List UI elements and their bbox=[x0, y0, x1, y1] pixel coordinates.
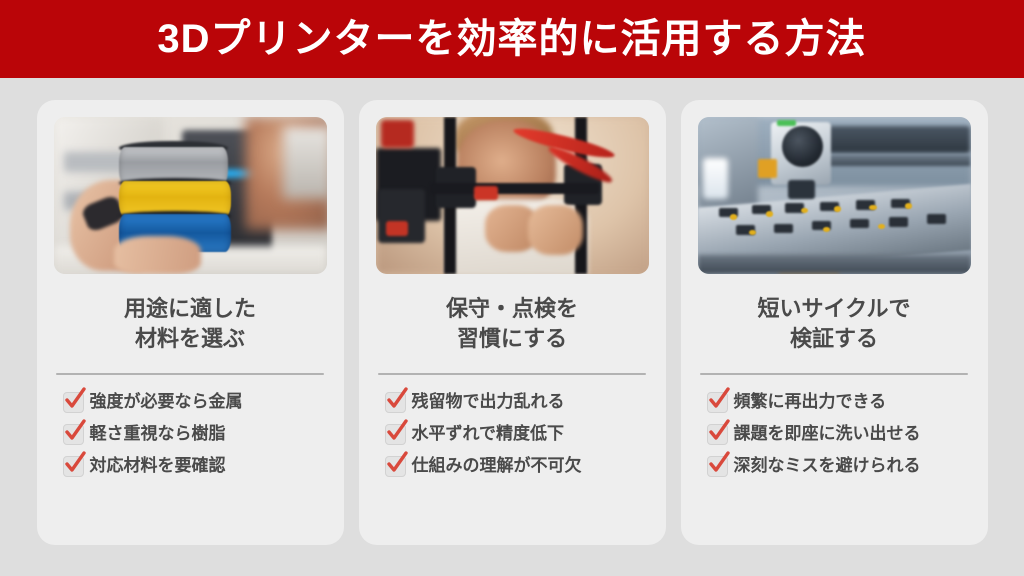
printer-maintenance-photo bbox=[376, 117, 649, 274]
card-checklist: 頻繁に再出力できる 課題を即座に洗い出せる 深刻なミスを避けられる bbox=[698, 392, 971, 477]
card-short-cycle: 短いサイクルで 検証する 頻繁に再出力できる 課題を即座に洗い出せる bbox=[681, 100, 988, 545]
check-icon bbox=[707, 456, 728, 477]
list-item-label: 仕組みの理解が不可欠 bbox=[412, 456, 582, 476]
list-item: 仕組みの理解が不可欠 bbox=[385, 456, 649, 477]
card-heading: 短いサイクルで 検証する bbox=[758, 294, 911, 355]
card-divider bbox=[700, 373, 968, 375]
page-title: 3Dプリンターを効率的に活用する方法 bbox=[157, 19, 866, 59]
check-icon bbox=[63, 424, 84, 445]
list-item: 対応材料を要確認 bbox=[63, 456, 327, 477]
list-item: 軽さ重視なら樹脂 bbox=[63, 424, 327, 445]
card-heading: 用途に適した 材料を選ぶ bbox=[124, 294, 256, 355]
cards-row: 用途に適した 材料を選ぶ 強度が必要なら金属 軽さ重視なら樹脂 bbox=[0, 78, 1024, 576]
check-icon bbox=[707, 392, 728, 413]
list-item-label: 軽さ重視なら樹脂 bbox=[90, 424, 226, 444]
list-item-label: 強度が必要なら金属 bbox=[90, 392, 243, 412]
list-item: 深刻なミスを避けられる bbox=[707, 456, 971, 477]
list-item-label: 頻繁に再出力できる bbox=[734, 392, 887, 412]
list-item: 課題を即座に洗い出せる bbox=[707, 424, 971, 445]
list-item-label: 対応材料を要確認 bbox=[90, 456, 226, 476]
card-checklist: 残留物で出力乱れる 水平ずれで精度低下 仕組みの理解が不可欠 bbox=[376, 392, 649, 477]
infographic-page: 3Dプリンターを効率的に活用する方法 用途に適した 材料を選ぶ bbox=[0, 0, 1024, 576]
check-icon bbox=[385, 456, 406, 477]
list-item: 頻繁に再出力できる bbox=[707, 392, 971, 413]
filament-spools-photo bbox=[54, 117, 327, 274]
list-item: 強度が必要なら金属 bbox=[63, 392, 327, 413]
check-icon bbox=[385, 424, 406, 445]
card-divider bbox=[378, 373, 646, 375]
card-heading: 保守・点検を 習慣にする bbox=[446, 294, 578, 355]
list-item: 水平ずれで精度低下 bbox=[385, 424, 649, 445]
card-maintenance: 保守・点検を 習慣にする 残留物で出力乱れる 水平ずれで精度低下 bbox=[359, 100, 666, 545]
card-material-selection: 用途に適した 材料を選ぶ 強度が必要なら金属 軽さ重視なら樹脂 bbox=[37, 100, 344, 545]
card-divider bbox=[56, 373, 324, 375]
list-item-label: 深刻なミスを避けられる bbox=[734, 456, 921, 476]
list-item: 残留物で出力乱れる bbox=[385, 392, 649, 413]
check-icon bbox=[385, 392, 406, 413]
card-checklist: 強度が必要なら金属 軽さ重視なら樹脂 対応材料を要確認 bbox=[54, 392, 327, 477]
check-icon bbox=[63, 392, 84, 413]
page-header: 3Dプリンターを効率的に活用する方法 bbox=[0, 0, 1024, 78]
list-item-label: 課題を即座に洗い出せる bbox=[734, 424, 921, 444]
industrial-machine-photo bbox=[698, 117, 971, 274]
list-item-label: 残留物で出力乱れる bbox=[412, 392, 565, 412]
check-icon bbox=[707, 424, 728, 445]
check-icon bbox=[63, 456, 84, 477]
list-item-label: 水平ずれで精度低下 bbox=[412, 424, 565, 444]
